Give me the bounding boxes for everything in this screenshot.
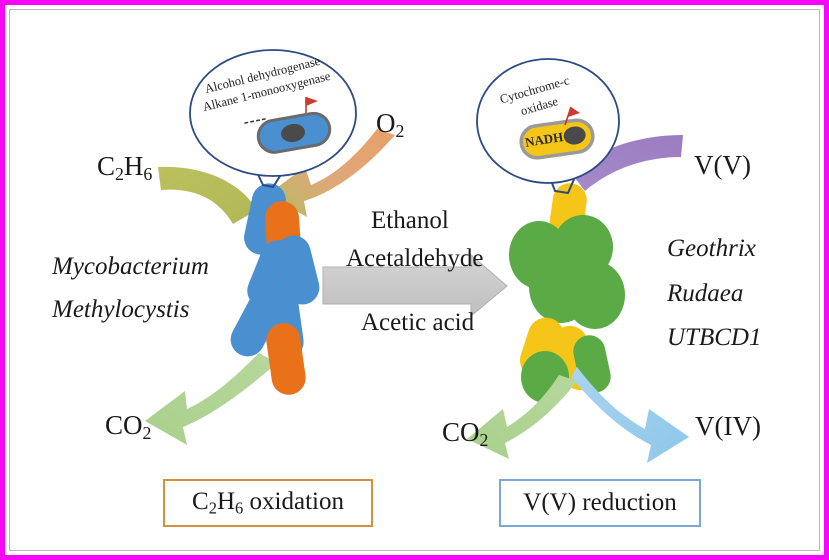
co2-output-arrow-left (145, 353, 277, 445)
ethane-input-arrow (158, 167, 257, 224)
ethane-label: C2H6 (97, 153, 152, 184)
organism-rudaea: Rudaea (667, 281, 743, 306)
vanadium-reduction-box: V(V) reduction (499, 479, 701, 527)
organism-mycobacterium: Mycobacterium (52, 254, 209, 279)
ethane-oxidation-label: C2H6 oxidation (192, 488, 344, 519)
organism-utbcd1: UTBCD1 (667, 325, 761, 350)
organism-geothrix: Geothrix (667, 236, 756, 261)
intermediate-acetaldehyde: Acetaldehyde (346, 246, 483, 271)
figure-canvas: Alcohol dehydrogenase Alkane 1-monooxyge… (0, 0, 829, 560)
co2-label-right: CO2 (442, 419, 488, 450)
vanadium5-label: V(V) (694, 152, 751, 179)
intermediate-acetic-acid: Acetic acid (361, 310, 474, 335)
right-cell-cluster (509, 181, 625, 403)
oxygen-label: O2 (376, 110, 404, 141)
ethane-oxidation-box: C2H6 oxidation (163, 479, 373, 527)
organism-methylocystis: Methylocystis (52, 297, 189, 322)
intermediate-ethanol: Ethanol (371, 208, 449, 233)
co2-label-left: CO2 (105, 412, 151, 443)
vanadium4-label: V(IV) (695, 413, 761, 440)
vanadium-reduction-label: V(V) reduction (523, 489, 676, 517)
